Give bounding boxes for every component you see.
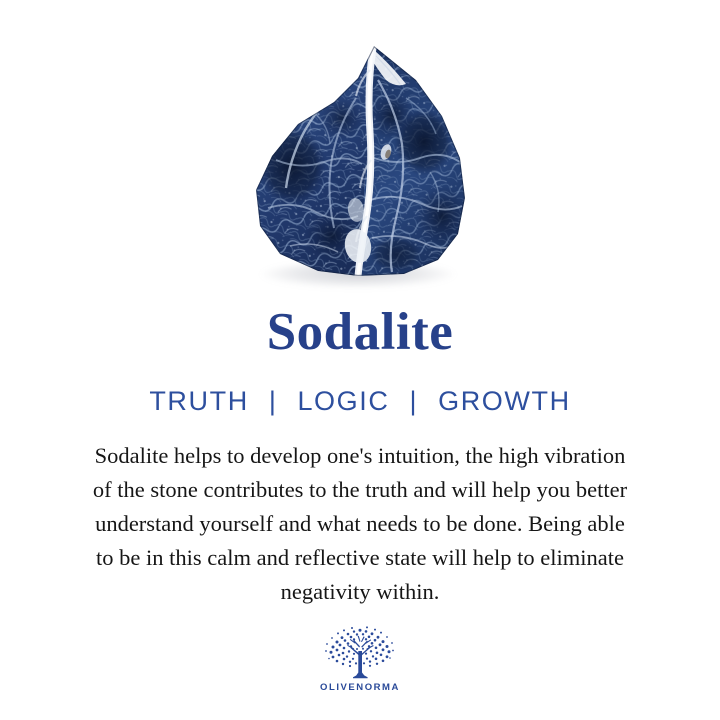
description-line: to be in this calm and reflective state … [24,541,696,575]
crystal-stage [246,40,472,288]
brand-logo: OLIVENORMA [320,625,400,693]
sodalite-info-card: Sodalite TRUTH | LOGIC | GROWTH Sodalite… [0,0,720,720]
crystal-image-block [0,0,720,290]
olive-tree-icon [323,625,397,681]
keyword-logic: LOGIC [297,388,389,415]
keyword-truth: TRUTH [149,388,248,415]
description-line: Sodalite helps to develop one's intuitio… [24,439,696,473]
description-paragraph: Sodalite helps to develop one's intuitio… [24,439,696,609]
brand-wordmark: OLIVENORMA [320,683,400,693]
page-title: Sodalite [267,306,454,359]
keyword-separator-1: | [269,388,278,415]
keyword-separator-2: | [409,388,418,415]
description-line: understand yourself and what needs to be… [24,507,696,541]
description-line: negativity within. [24,575,696,609]
sodalite-crystal-photo [246,40,472,284]
description-line: of the stone contributes to the truth an… [24,473,696,507]
keyword-growth: GROWTH [438,388,571,415]
keyword-row: TRUTH | LOGIC | GROWTH [149,388,570,415]
